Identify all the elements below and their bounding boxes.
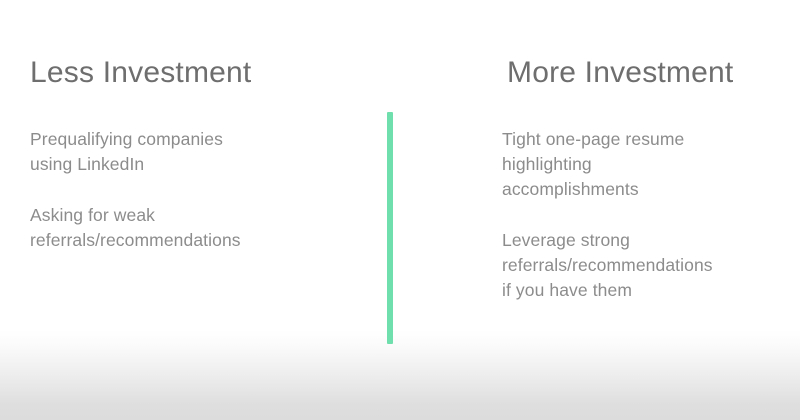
- bullet-right-1: Tight one-page resume highlighting accom…: [502, 127, 792, 202]
- slide-canvas: Less Investment Prequalifying companies …: [0, 0, 800, 420]
- vertical-separator-icon: [387, 112, 393, 344]
- heading-less-investment: Less Investment: [30, 54, 251, 92]
- bullet-left-2: Asking for weak referrals/recommendation…: [30, 203, 350, 253]
- heading-more-investment: More Investment: [507, 54, 733, 92]
- bullet-left-1: Prequalifying companies using LinkedIn: [30, 127, 350, 177]
- bullet-right-2: Leverage strong referrals/recommendation…: [502, 228, 792, 303]
